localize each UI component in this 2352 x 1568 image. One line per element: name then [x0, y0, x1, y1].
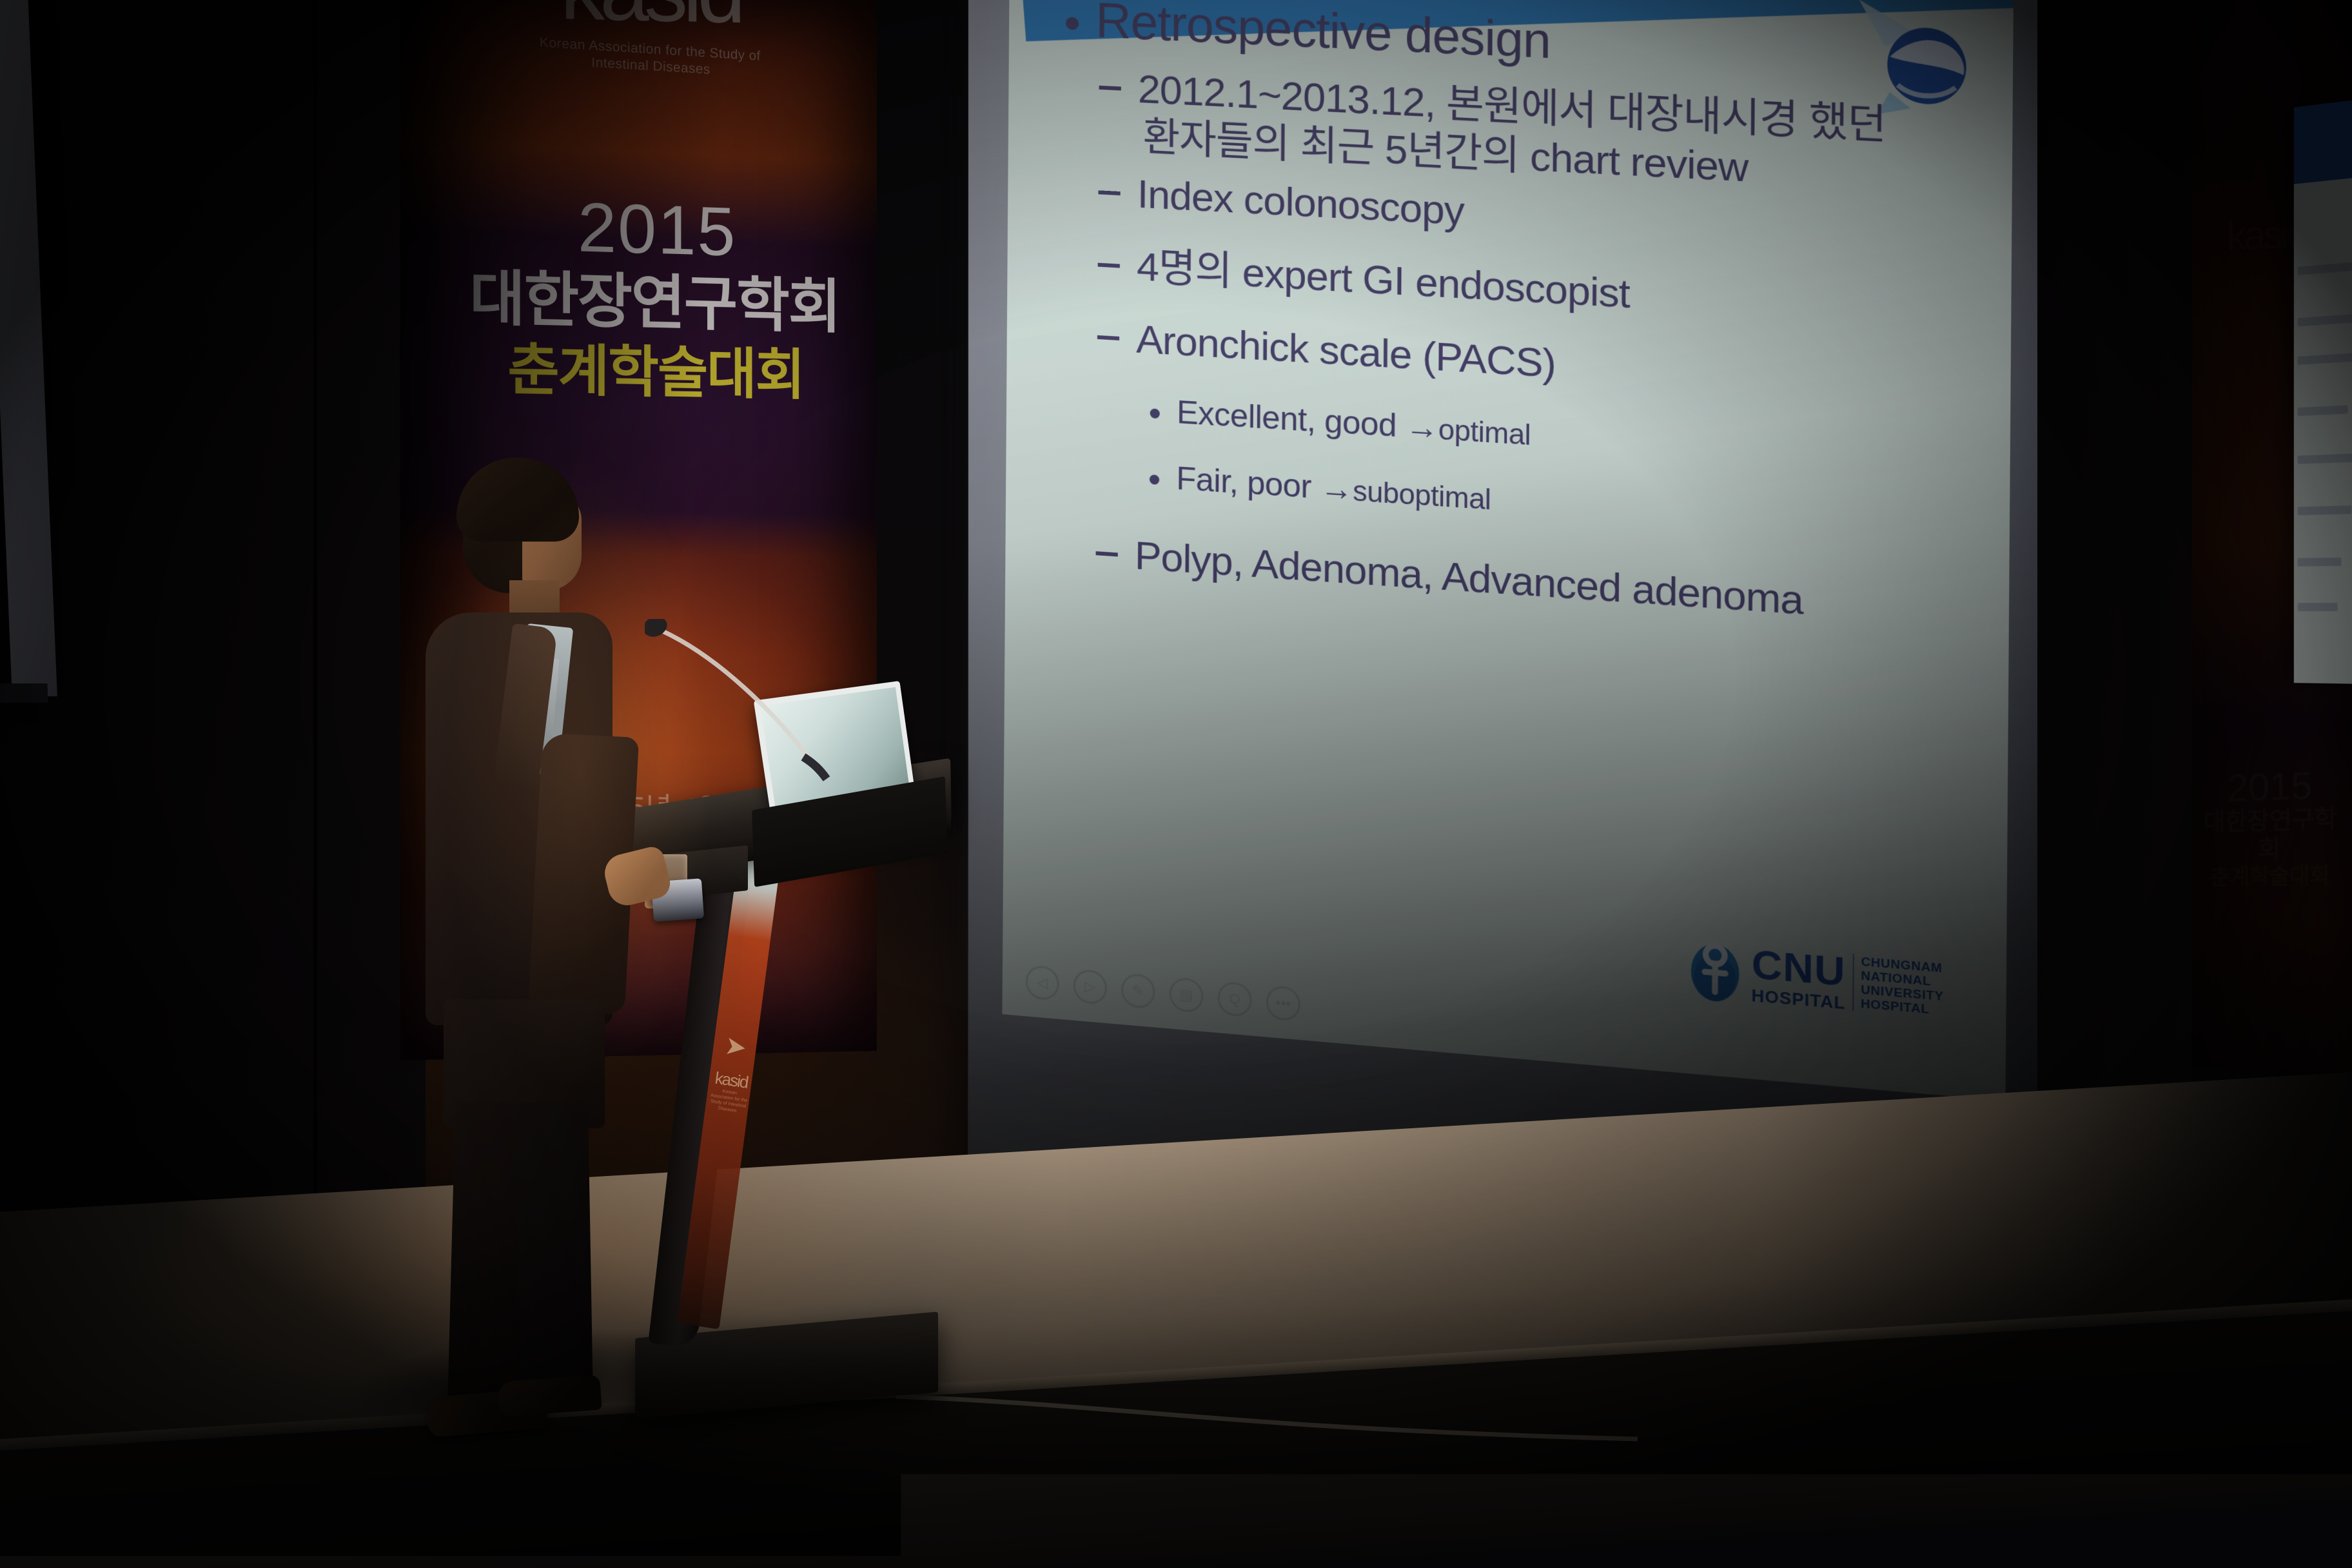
left-wall	[0, 0, 426, 1322]
screen-lighting-overlay	[968, 0, 2101, 1273]
podium-logo-mark: ➤	[715, 1029, 756, 1064]
presenter-spotlight	[387, 438, 709, 1444]
aux-display-header-band	[2294, 99, 2352, 184]
wall-seam	[313, 0, 317, 1264]
auxiliary-display	[2294, 99, 2352, 683]
podium-logo-tagline: Korean Association for the Study of Inte…	[709, 1087, 749, 1115]
conference-stage-photo: kasid Korean Association for the Study o…	[0, 0, 2352, 1568]
presenter	[413, 464, 683, 1406]
secondary-screen-foot	[0, 683, 48, 703]
floor-cable	[896, 1385, 1638, 1443]
